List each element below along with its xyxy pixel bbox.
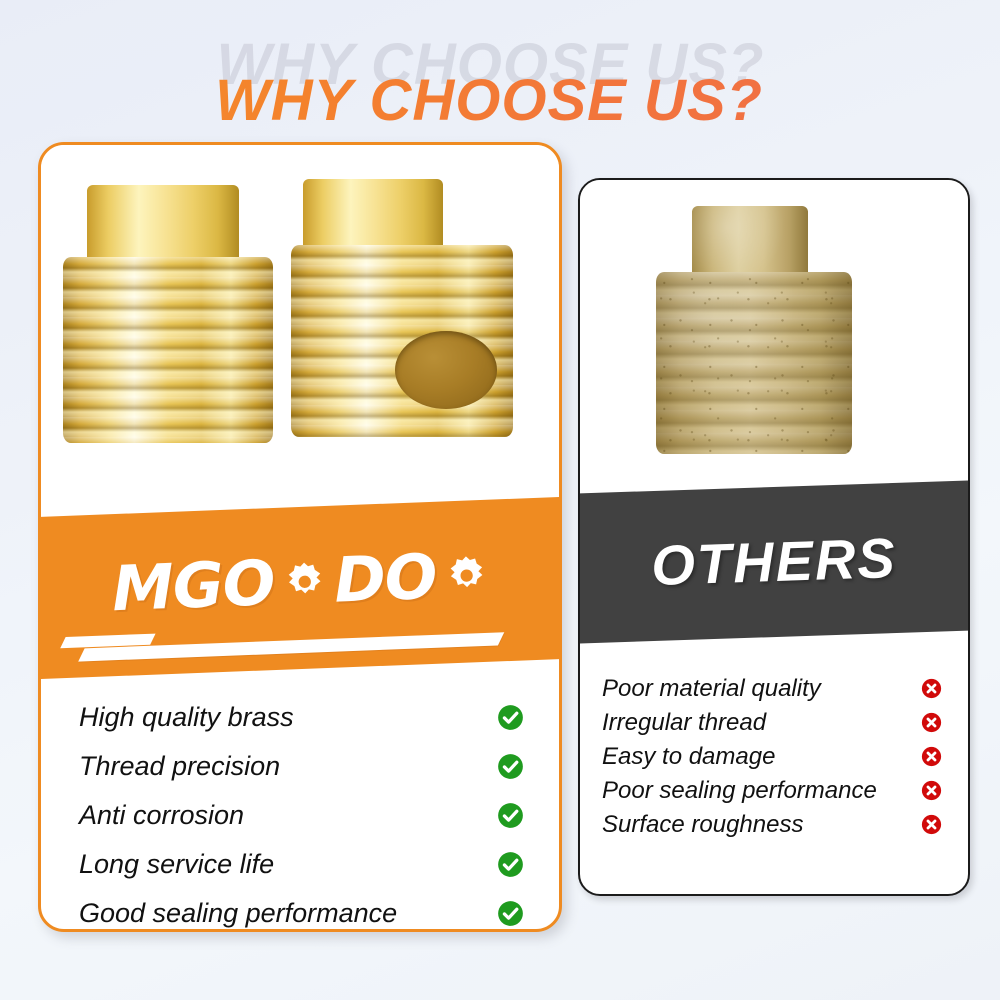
check-circle-icon — [497, 900, 524, 927]
list-item: Irregular thread — [602, 706, 946, 739]
brand-banner: MGO DO — [38, 497, 562, 680]
list-item: Anti corrosion — [79, 795, 529, 835]
brass-plug-front — [63, 257, 273, 443]
feature-label: Good sealing performance — [79, 898, 397, 929]
list-item: Poor material quality — [602, 672, 946, 705]
feature-label: Long service life — [79, 849, 274, 880]
plug-threaded-body — [63, 257, 273, 443]
list-item: Surface roughness — [602, 808, 946, 841]
brand-logo: MGO DO — [111, 544, 489, 620]
feature-label: Poor material quality — [602, 675, 821, 703]
page-title: WHY CHOOSE US? — [0, 67, 1000, 134]
list-item: Long service life — [79, 844, 529, 884]
brand-card: MGO DO High q — [38, 142, 562, 932]
list-item: Easy to damage — [602, 740, 946, 773]
cross-circle-icon — [921, 780, 942, 801]
feature-label: Anti corrosion — [79, 800, 244, 831]
others-feature-list: Poor material quality Irregular thread E… — [580, 672, 968, 842]
feature-label: High quality brass — [79, 702, 294, 733]
others-banner: OTHERS — [578, 480, 970, 644]
brass-plug-rough — [656, 272, 852, 454]
list-item: High quality brass — [79, 697, 529, 737]
others-product-photo — [580, 180, 968, 510]
brand-logo-word-2: DO — [333, 546, 437, 612]
list-item: Good sealing performance — [79, 893, 529, 932]
others-card: OTHERS Poor material quality Irregular t… — [578, 178, 970, 896]
check-circle-icon — [497, 753, 524, 780]
feature-label: Surface roughness — [602, 811, 803, 839]
plug-bore — [395, 331, 497, 409]
check-circle-icon — [497, 704, 524, 731]
cross-circle-icon — [921, 678, 942, 699]
cross-circle-icon — [921, 746, 942, 767]
check-circle-icon — [497, 851, 524, 878]
brand-logo-word-1: MGO — [111, 552, 276, 620]
check-circle-icon — [497, 802, 524, 829]
brass-plug-angled — [291, 245, 513, 437]
gear-icon — [445, 554, 489, 598]
feature-label: Irregular thread — [602, 709, 766, 737]
cross-circle-icon — [921, 814, 942, 835]
gear-icon — [283, 560, 327, 604]
feature-label: Easy to damage — [602, 743, 775, 771]
cross-circle-icon — [921, 712, 942, 733]
brand-product-photo — [41, 145, 559, 523]
infographic-canvas: WHY CHOOSE US? WHY CHOOSE US? OTHERS Poo… — [0, 0, 1000, 1000]
feature-label: Thread precision — [79, 751, 280, 782]
feature-label: Poor sealing performance — [602, 777, 877, 805]
list-item: Thread precision — [79, 746, 529, 786]
list-item: Poor sealing performance — [602, 774, 946, 807]
surface-roughness-texture — [656, 272, 852, 454]
others-title: OTHERS — [650, 530, 897, 594]
brand-feature-list: High quality brass Thread precision Anti… — [41, 697, 559, 932]
